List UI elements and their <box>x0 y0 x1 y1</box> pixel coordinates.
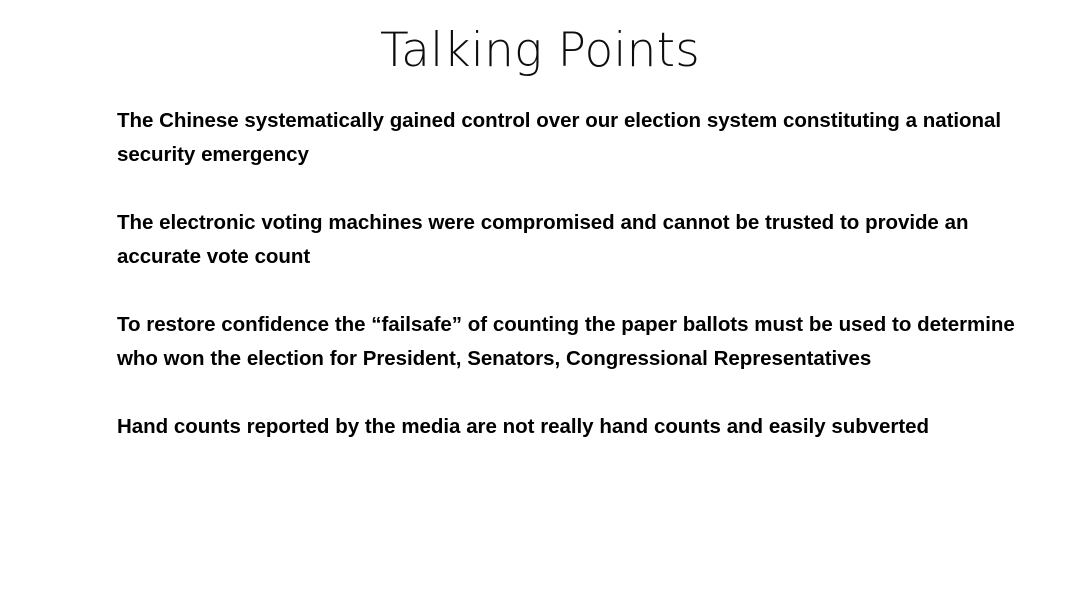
presentation-slide: Talking Points The Chinese systematicall… <box>0 0 1080 607</box>
talking-point-3: To restore confidence the “failsafe” of … <box>117 308 1047 376</box>
paragraph-spacer-2 <box>117 274 1047 308</box>
page-title: Talking Points <box>0 22 1080 80</box>
talking-point-2: The electronic voting machines were comp… <box>117 206 1047 274</box>
talking-point-1: The Chinese systematically gained contro… <box>117 104 1047 172</box>
paragraph-spacer-1 <box>117 172 1047 206</box>
slide-body: The Chinese systematically gained contro… <box>117 104 1047 444</box>
paragraph-spacer-3 <box>117 376 1047 410</box>
talking-point-4: Hand counts reported by the media are no… <box>117 410 1047 444</box>
